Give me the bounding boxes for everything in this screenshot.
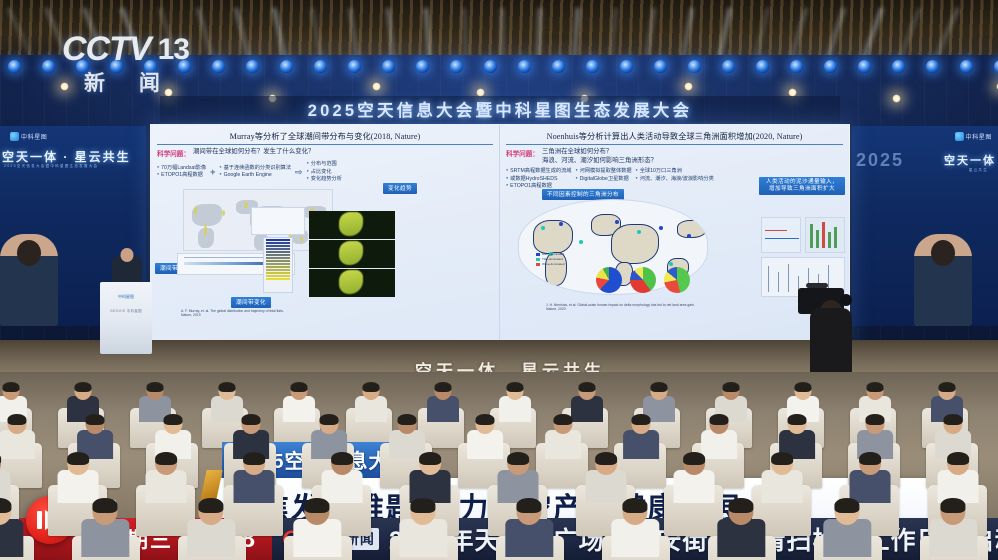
presentation-screen: Murray等分析了全球潮间带分布与变化(2018, Nature) 科学问题：…	[150, 124, 850, 349]
channel-logo-line1: CCTV 13	[62, 30, 222, 69]
camera-operator	[800, 286, 860, 378]
audience-member	[186, 498, 236, 557]
slide-right-panel-a	[805, 217, 845, 253]
broadcast-frame: 中科星图 空天一体 · 星云共生 2025空天信息大会暨中科星图生态发展大会 中…	[0, 0, 998, 560]
audience-member	[496, 452, 540, 503]
side-screen-left-subline: 2025空天信息大会暨中科星图生态发展大会	[4, 164, 98, 169]
audience-member	[928, 498, 978, 557]
photo-cell	[309, 211, 395, 239]
audience-member	[936, 452, 980, 503]
slide-left: Murray等分析了全球潮间带分布与变化(2018, Nature) 科学问题：…	[151, 125, 500, 348]
audience-member	[232, 452, 276, 503]
audience-member	[622, 414, 660, 459]
audience-member	[80, 498, 130, 557]
slide-right-title: Noenhuis等分析计算出人类活动导致全球三角洲面积增加(2020, Natu…	[506, 130, 843, 145]
audience-member	[504, 498, 554, 557]
slide-left-question-label: 科学问题：	[157, 148, 190, 158]
slide-right-tag-model: 不同因素控制的三角洲分布	[542, 189, 624, 200]
side-screen-left-slogan: 空天一体 · 星云共生	[2, 148, 131, 165]
audience-member	[320, 452, 364, 503]
geovis-logo-icon	[955, 132, 964, 141]
slide-left-title: Murray等分析了全球潮间带分布与变化(2018, Nature)	[157, 130, 493, 145]
geovis-logo-icon	[10, 132, 19, 141]
slide-left-result-1: 分布与范围	[307, 161, 342, 169]
slide-left-data-2: ETOPO1高程数据	[157, 172, 206, 180]
slide-right-method-1: 河网模拟提取整体数据	[575, 168, 631, 176]
pie-chart-tide	[630, 267, 656, 293]
slide-left-tag-trend: 变化趋势	[383, 183, 417, 194]
side-screen-left-speaker	[0, 234, 58, 326]
channel-logo: CCTV 13 新 闻	[62, 30, 222, 97]
slide-left-question-text: 潮间带在全球如何分布？发生了什么变化？	[193, 148, 314, 157]
audience-member	[848, 452, 892, 503]
slide-left-caption: A. F. Murray, et. al. The global distrib…	[181, 309, 291, 318]
plus-icon: +	[210, 167, 215, 177]
slide-right-panel-b	[761, 217, 801, 253]
audience-member	[388, 414, 426, 459]
slide-left-legend	[263, 237, 293, 293]
photo-cell	[309, 240, 395, 268]
audience-member	[282, 382, 316, 422]
slide-left-method-1: 基于连续函数的分类识别算法	[219, 165, 291, 173]
audience-member	[466, 414, 504, 459]
arrow-right-icon: ⇨	[295, 167, 303, 178]
slide-right-result-2: 河流、潮汐、海浪/波浪影响分类	[636, 176, 714, 184]
slide-left-inset-map	[251, 207, 305, 235]
audience-member	[570, 382, 604, 422]
audience-member	[426, 382, 460, 422]
side-screen-right-year: 2025	[856, 150, 904, 171]
side-screen-right-speaker	[914, 234, 972, 326]
slide-right-caption: J. H. Nienhuis, et al. Global-scale huma…	[546, 303, 696, 312]
pie-chart-wave	[664, 267, 690, 293]
side-screen-right-logo: 中科星图	[966, 132, 992, 141]
slide-right-question-label: 科学问题：	[506, 148, 539, 158]
podium-subtext: GEOVIS 中科星图	[110, 308, 142, 313]
audience-member	[716, 498, 766, 557]
stage-podium: 中科星图 GEOVIS 中科星图	[100, 282, 152, 354]
slide-right-tag-impact: 人类活动的泥沙通量输入，增加导致三角洲面积扩大	[759, 177, 845, 195]
slide-right: Noenhuis等分析计算出人类活动导致全球三角洲面积增加(2020, Natu…	[500, 125, 849, 348]
channel-logo-sub: 新 闻	[62, 67, 222, 97]
slide-right-legend: River-dominatedTide-dominatedWave-domina…	[536, 253, 570, 269]
audience-member	[292, 498, 342, 557]
stage-banner-text: 2025空天信息大会暨中科星图生态发展大会	[308, 97, 692, 121]
audience-member	[144, 452, 188, 503]
slide-left-tag-change: 潮间带变化	[231, 297, 271, 308]
channel-logo-number: 13	[155, 33, 192, 67]
podium-logo: 中科星图	[118, 294, 134, 300]
side-screen-right: 中科星图 2025 空天一体 星云共生	[852, 126, 998, 326]
side-screen-left-logo: 中科星图	[21, 132, 47, 141]
audience-member	[498, 382, 532, 422]
slide-left-bullets: 70万幅Landsat影像 ETOPO1高程数据 + 基于连续函数的分类识别算法…	[157, 161, 493, 184]
side-screen-right-slogan: 空天一体	[944, 152, 996, 168]
audience-member	[672, 452, 716, 503]
slide-right-question-text-1: 三角洲在全球如何分布？	[542, 148, 657, 157]
channel-logo-cctv: CCTV	[62, 30, 151, 69]
side-screen-right-subline: 星云共生	[969, 168, 988, 173]
slide-left-method-2: Google Earth Engine	[219, 172, 291, 180]
audience-area	[0, 372, 998, 560]
slide-left-result-2: 占比变化	[307, 169, 342, 177]
slide-left-photo-strip	[309, 211, 395, 297]
audience-member	[408, 452, 452, 503]
photo-cell	[309, 269, 395, 297]
slide-right-data-1: SRTM高程数据生成的流域	[506, 168, 571, 176]
audience-member	[398, 498, 448, 557]
audience-member	[354, 382, 388, 422]
audience-member	[584, 452, 628, 503]
stage-banner: 2025空天信息大会暨中科星图生态发展大会	[160, 96, 840, 122]
audience-member	[760, 452, 804, 503]
slide-left-result-3: 变化趋势分析	[307, 176, 342, 184]
slide-right-result-1: 全球10万口三角洲	[636, 168, 714, 176]
audience-member	[822, 498, 872, 557]
slide-right-question-text-2: 海浪、河流、潮汐如何影响三角洲形态？	[542, 157, 657, 166]
audience-member	[700, 414, 738, 459]
audience-member	[0, 414, 36, 459]
audience-member	[544, 414, 582, 459]
audience-member	[210, 382, 244, 422]
audience-member	[56, 452, 100, 503]
pie-chart-river	[596, 267, 622, 293]
audience-member	[610, 498, 660, 557]
